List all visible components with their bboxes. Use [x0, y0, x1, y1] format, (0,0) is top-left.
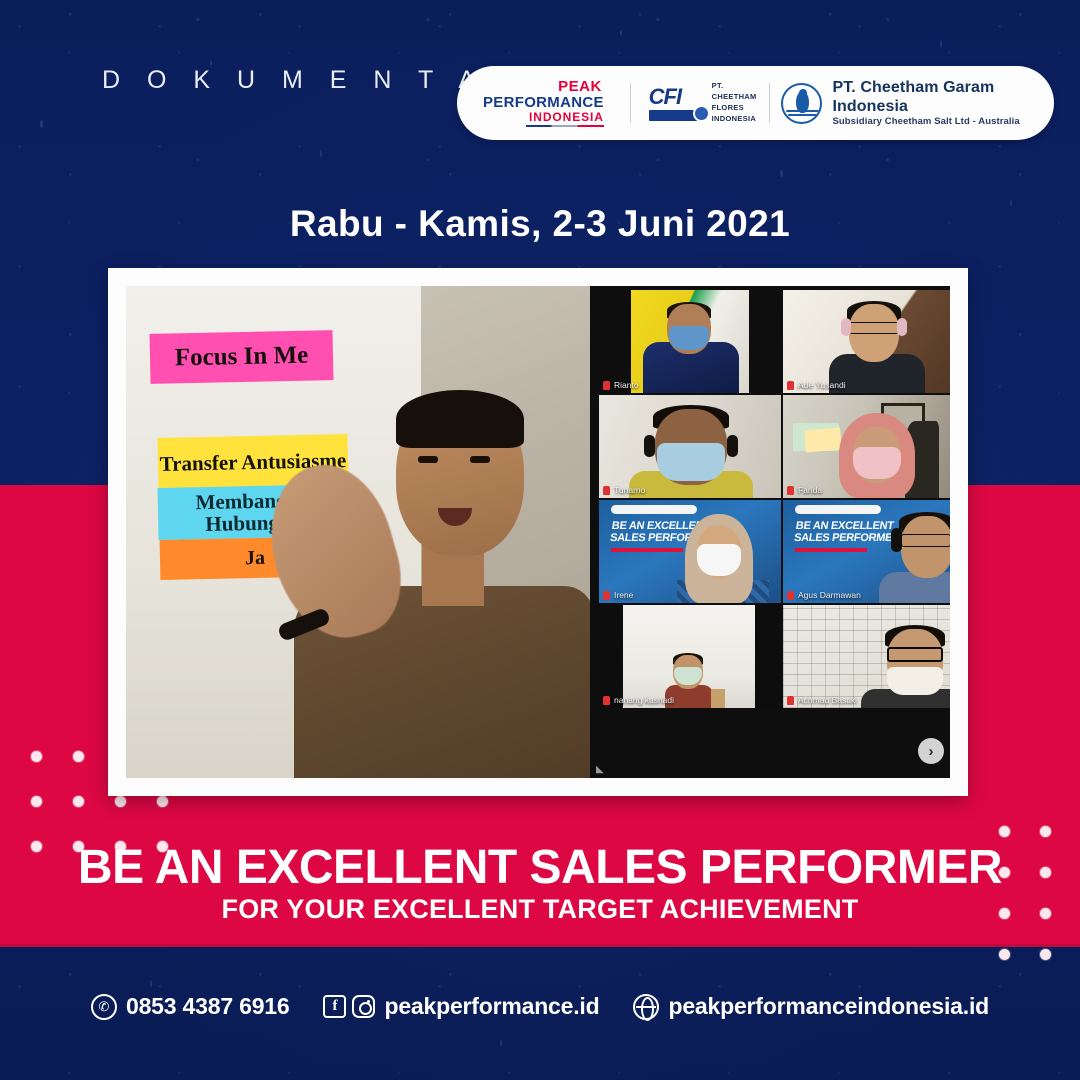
- participant-tile[interactable]: nanang kusnadi: [599, 605, 781, 708]
- participant-headphone: [841, 318, 851, 336]
- participant-name-badge: Achmad Basuki: [787, 695, 857, 705]
- participant-mask: [853, 447, 901, 479]
- mic-muted-icon: [787, 591, 794, 600]
- participant-glasses: [887, 647, 943, 662]
- cheetham-tagline: Subsidiary Cheetham Salt Ltd - Australia: [832, 116, 1032, 127]
- cheetham-wave-shape: [786, 110, 819, 112]
- participant-name: Farida: [798, 485, 822, 495]
- globe-icon: [633, 994, 659, 1020]
- participant-tile[interactable]: Farida: [783, 395, 950, 498]
- speaker-eye: [418, 456, 438, 463]
- participant-mask: [697, 544, 741, 576]
- virtual-background-toolbar: [611, 505, 697, 514]
- participant-mask: [669, 326, 709, 350]
- participant-tile[interactable]: BE AN EXCELLENT SALES PERFORMER Agus Dar…: [783, 500, 950, 603]
- participant-name: Rianto: [614, 380, 639, 390]
- event-date: Rabu - Kamis, 2-3 Juni 2021: [0, 203, 1080, 245]
- participant-name-badge: Tunarno: [603, 485, 645, 495]
- mic-muted-icon: [603, 381, 610, 390]
- cheetham-garam-logo: PT. Cheetham Garam Indonesia Subsidiary …: [781, 66, 1054, 140]
- photo-frame: Focus In Me Transfer Antusiasme Membangu…: [108, 268, 968, 796]
- vbg-title-line1: BE AN EXCELLENT: [795, 520, 894, 532]
- participant-name: Tunarno: [614, 485, 645, 495]
- participant-body: [879, 572, 950, 603]
- participant-tile[interactable]: Achmad Basuki: [783, 605, 950, 708]
- participant-mask: [657, 443, 725, 481]
- partner-logo-bar: PEAK PERFORMANCE INDONESIA CFI PT.CHEETH…: [457, 66, 1054, 140]
- background-speck: [780, 170, 783, 177]
- participant-name-badge: Agus Darmawan: [787, 590, 861, 600]
- peak-performance-logo: PEAK PERFORMANCE INDONESIA: [457, 66, 618, 140]
- participant-grid: Rianto Ade Yusandi: [590, 286, 950, 778]
- participant-name-badge: Rianto: [603, 380, 639, 390]
- whatsapp-icon: ✆: [91, 994, 117, 1020]
- participant-name-badge: nanang kusnadi: [603, 695, 674, 705]
- participant-glasses: [901, 534, 950, 547]
- mic-muted-icon: [603, 486, 610, 495]
- participant-glasses: [849, 322, 899, 334]
- logo-divider: [630, 83, 631, 123]
- phone-number: 0853 4387 6916: [126, 993, 289, 1020]
- cfi-wordmark: CFI: [649, 86, 703, 108]
- peak-logo-line2: PERFORMANCE: [483, 95, 604, 110]
- footer-phone[interactable]: ✆ 0853 4387 6916: [91, 993, 289, 1020]
- social-handle: peakperformance.id: [384, 993, 599, 1020]
- mic-muted-icon: [603, 591, 610, 600]
- background-speck: [40, 120, 43, 128]
- main-speaker-video: Focus In Me Transfer Antusiasme Membangu…: [126, 286, 590, 778]
- cfi-mark-icon: CFI: [649, 86, 703, 121]
- background-speck: [500, 1040, 502, 1046]
- background-speck: [940, 40, 942, 48]
- participant-face: [901, 516, 950, 578]
- participant-name: Achmad Basuki: [798, 695, 857, 705]
- poster-canvas: D O K U M E N T A S I PEAK PERFORMANCE I…: [0, 0, 1080, 1080]
- cheetham-seahorse-icon: [781, 83, 822, 124]
- mic-muted-icon: [787, 381, 794, 390]
- zoom-meeting-screenshot: Focus In Me Transfer Antusiasme Membangu…: [126, 286, 950, 778]
- vbg-title-line2: SALES PERFORMER: [793, 532, 900, 544]
- speaker-eye: [470, 456, 490, 463]
- participant-mask: [887, 667, 943, 695]
- resize-grip-icon[interactable]: ◣: [596, 764, 606, 774]
- participant-name: Ade Yusandi: [798, 380, 846, 390]
- background-speck: [150, 980, 152, 987]
- participant-headset: [644, 435, 655, 457]
- cfi-globe-icon: [693, 105, 710, 122]
- participant-name-badge: Farida: [787, 485, 822, 495]
- background-object: [711, 689, 725, 708]
- headline-subtitle: FOR YOUR EXCELLENT TARGET ACHIEVEMENT: [0, 894, 1080, 925]
- cheetham-company-name: PT. Cheetham Garam Indonesia: [832, 79, 1032, 116]
- peak-logo-rule: [526, 125, 604, 127]
- participant-tile[interactable]: Rianto: [599, 290, 781, 393]
- virtual-background-toolbar: [795, 505, 881, 514]
- cfi-company-words: PT.CHEETHAMFLORESINDONESIA: [712, 81, 757, 125]
- speaker-hair: [396, 390, 524, 448]
- participant-headphone: [897, 318, 907, 336]
- background-note: [804, 427, 842, 452]
- virtual-background-rule: [611, 548, 683, 552]
- participant-tile[interactable]: BE AN EXCELLENT SALES PERFORMER Irene: [599, 500, 781, 603]
- footer-social[interactable]: f peakperformance.id: [323, 993, 599, 1020]
- website-url: peakperformanceindonesia.id: [668, 993, 989, 1020]
- footer-contact-bar: ✆ 0853 4387 6916 f peakperformance.id pe…: [0, 993, 1080, 1020]
- background-speck: [320, 150, 322, 157]
- participant-name-badge: Irene: [603, 590, 633, 600]
- facebook-icon: f: [323, 995, 346, 1018]
- participant-name: Irene: [614, 590, 633, 600]
- background-speck: [620, 30, 622, 36]
- mic-muted-icon: [787, 696, 794, 705]
- footer-website[interactable]: peakperformanceindonesia.id: [633, 993, 989, 1020]
- participant-name: Agus Darmawan: [798, 590, 861, 600]
- sticky-note-pink: Focus In Me: [149, 330, 333, 384]
- cheetham-wave-shape: [788, 114, 817, 116]
- social-icons: f: [323, 995, 375, 1018]
- mic-muted-icon: [603, 696, 610, 705]
- participant-headset: [891, 528, 902, 552]
- cfi-bar-shape: [649, 110, 703, 121]
- peak-logo-line1: PEAK: [558, 79, 602, 94]
- peak-logo-line3: INDONESIA: [529, 111, 604, 123]
- cheetham-text-block: PT. Cheetham Garam Indonesia Subsidiary …: [832, 79, 1032, 127]
- virtual-background-title: BE AN EXCELLENT SALES PERFORMER: [793, 520, 902, 544]
- logo-divider: [769, 83, 770, 123]
- instagram-icon: [352, 995, 375, 1018]
- mic-muted-icon: [787, 486, 794, 495]
- participant-name: nanang kusnadi: [614, 695, 674, 705]
- participant-name-badge: Ade Yusandi: [787, 380, 846, 390]
- participant-headset: [727, 435, 738, 457]
- participant-tile[interactable]: Tunarno: [599, 395, 781, 498]
- virtual-background-rule: [795, 548, 867, 552]
- cfi-logo: CFI PT.CHEETHAMFLORESINDONESIA: [643, 66, 757, 140]
- participant-tile[interactable]: Ade Yusandi: [783, 290, 950, 393]
- headline-title: BE AN EXCELLENT SALES PERFORMER: [0, 840, 1080, 895]
- next-page-arrow-icon[interactable]: ›: [918, 738, 944, 764]
